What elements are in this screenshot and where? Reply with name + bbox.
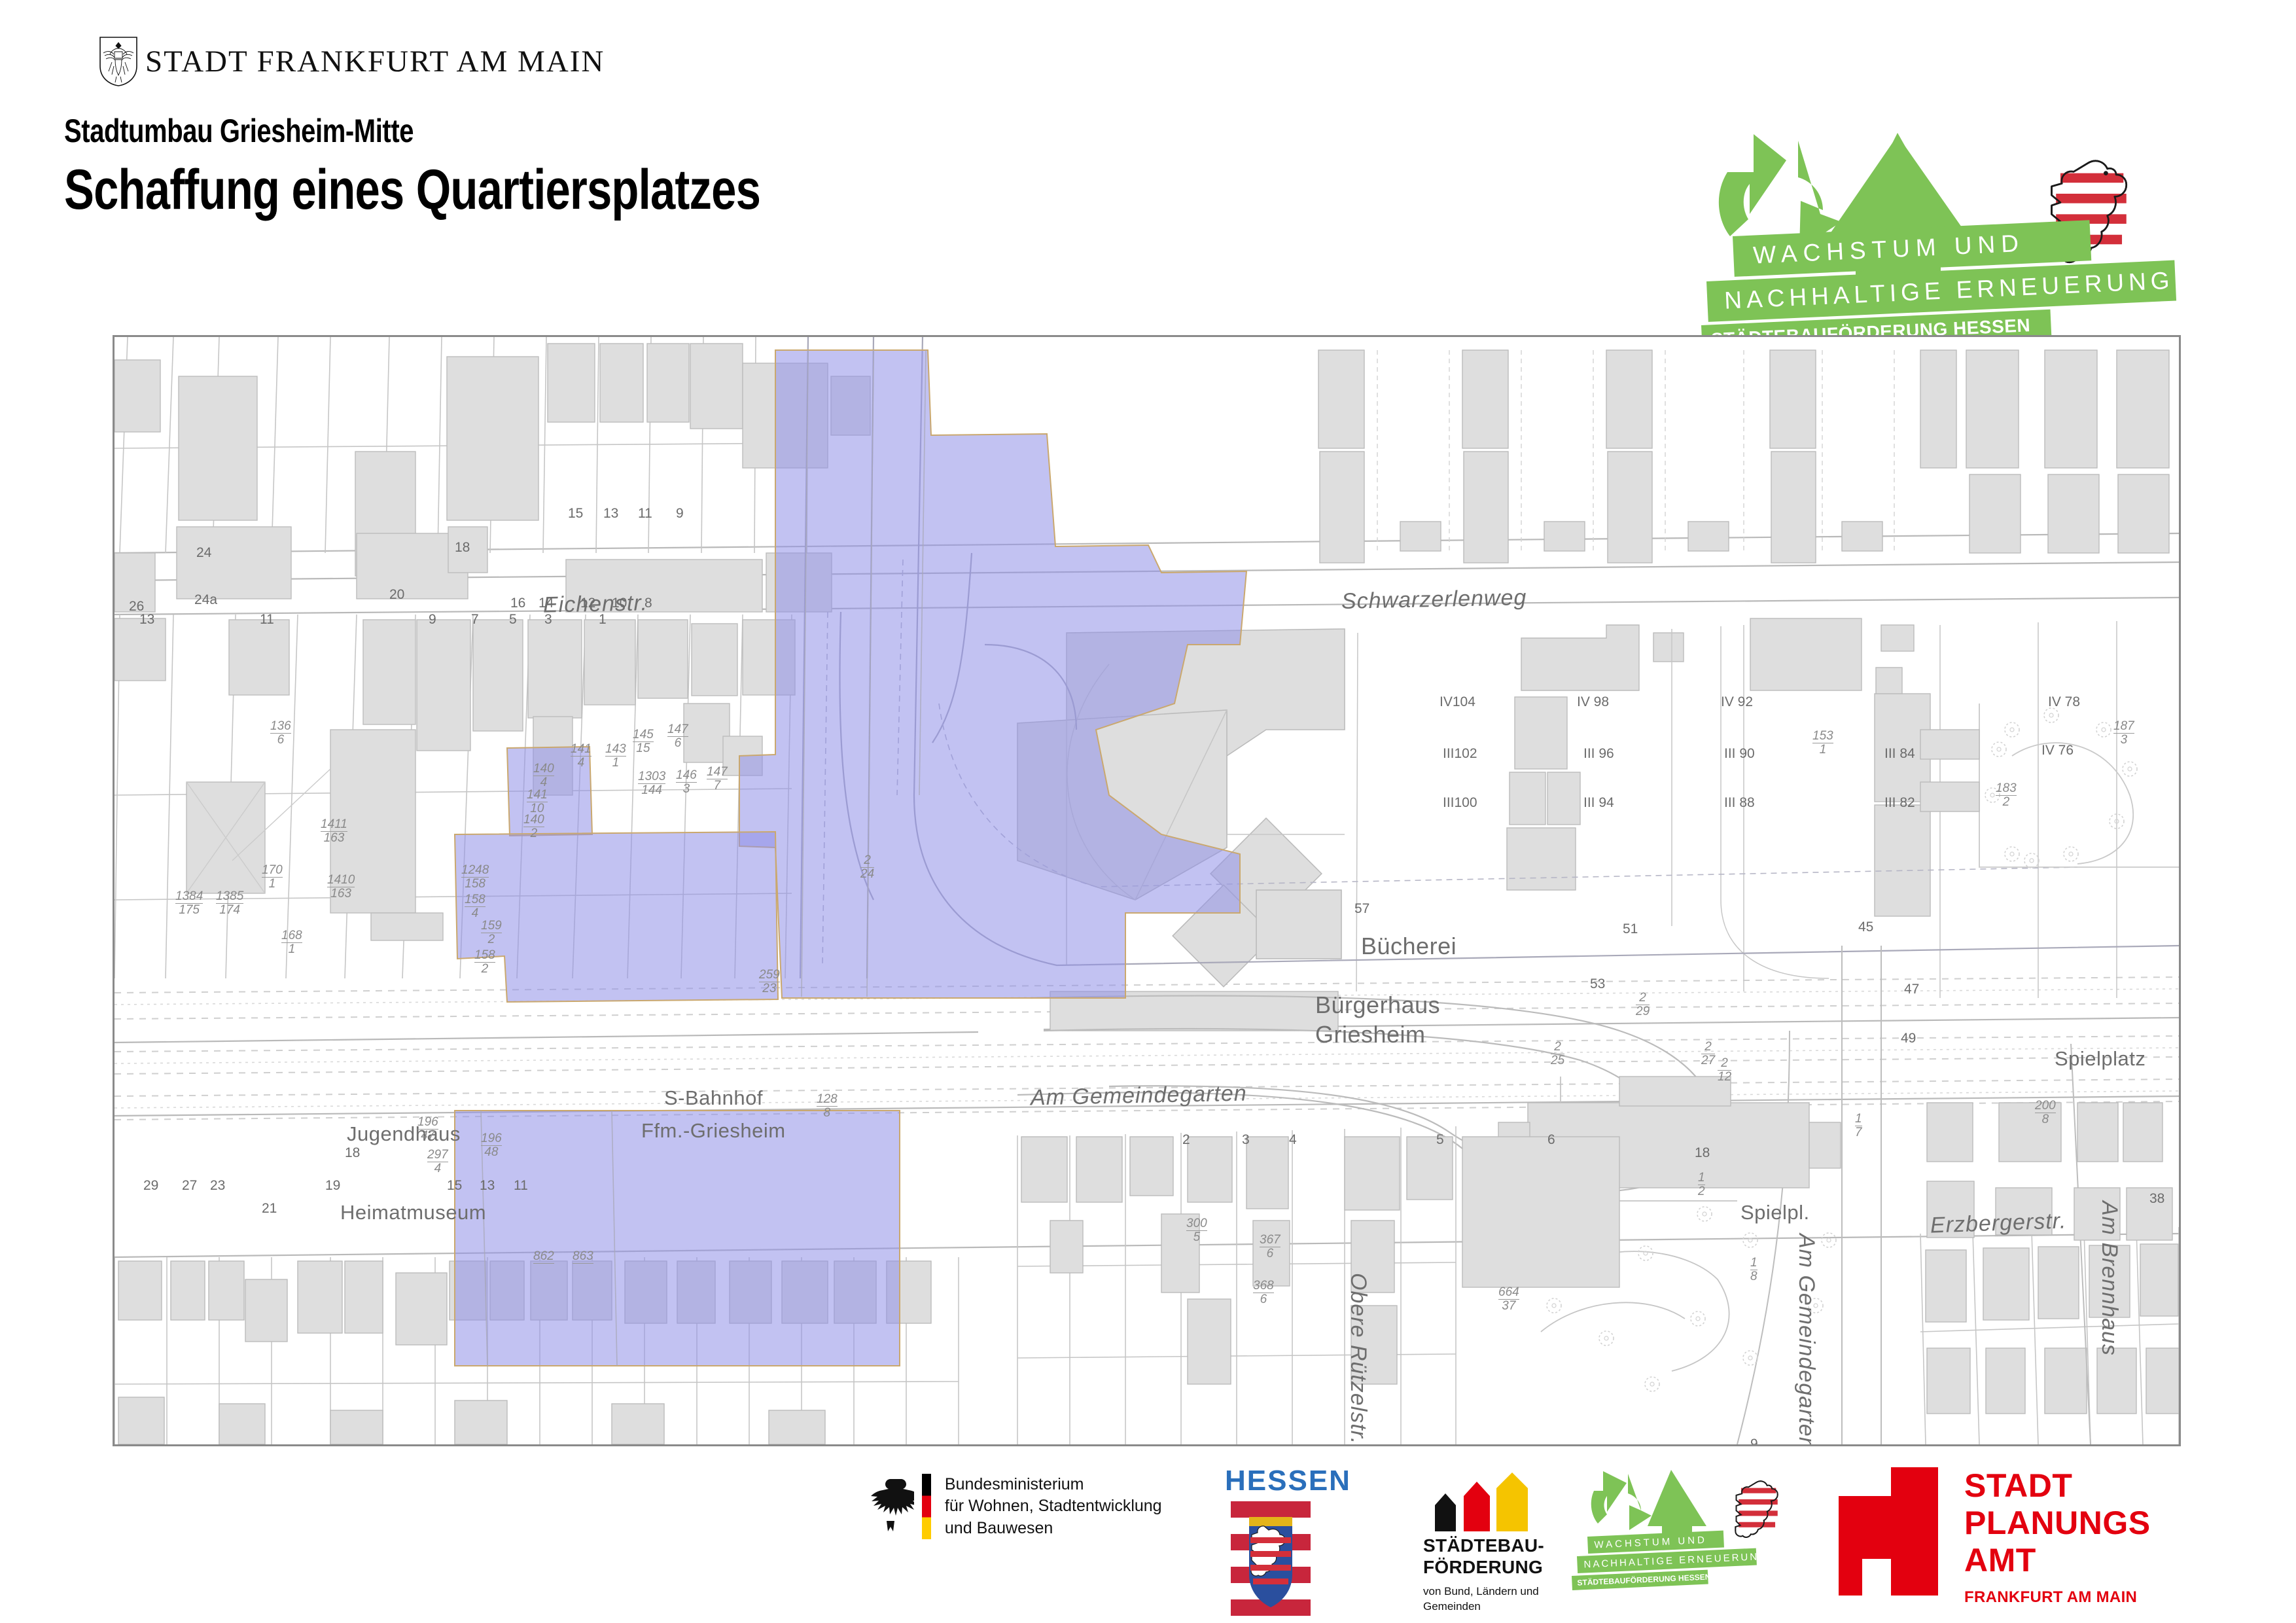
hessen-lion-icon [1735,1481,1777,1537]
german-flag-bar-icon [922,1474,931,1539]
frankfurt-eagle-crest-icon [98,36,139,87]
page-title: Schaffung eines Quartiersplatzes [64,162,760,218]
green-recycle-arrow-icon [1591,1471,1627,1524]
stadtplanungsamt-sublabel: FRANKFURT AM MAIN [1964,1588,2151,1607]
frankfurt-red-block-icon [1839,1467,1938,1596]
footer-logo-bmwsb: Bundesministerium für Wohnen, Stadtentwi… [867,1474,1162,1539]
three-houses-icon [1423,1471,1541,1531]
city-wordmark: STADT FRANKFURT AM MAIN [145,44,605,79]
hessen-coat-of-arms-icon [1231,1501,1311,1616]
footer-logo-program: WACHSTUM UND NACHHALTIGE ERNEUERUNG STÄD… [1590,1466,1786,1600]
page-subtitle: Stadtumbau Griesheim-Mitte [64,115,760,147]
federal-eagle-icon [867,1474,914,1539]
cadastral-map[interactable]: Eichenstr. Schwarzerlenweg Am Gemeindega… [113,335,2181,1446]
staedtebau-sublabel: von Bund, Ländern und Gemeinden [1423,1584,1544,1614]
title-block: Stadtumbau Griesheim-Mitte Schaffung ein… [64,115,934,218]
green-recycle-arrow-icon [1719,134,1786,236]
hessen-wordmark: HESSEN [1225,1465,1316,1497]
stadtplanungsamt-wordmark: STADT PLANUNGS AMT [1964,1467,2151,1579]
staedtebau-label: STÄDTEBAU- FÖRDERUNG [1423,1535,1544,1578]
page-header: STADT FRANKFURT AM MAIN Stadtumbau Gries… [0,0,2296,327]
footer-logo-staedtebaufoerderung: STÄDTEBAU- FÖRDERUNG von Bund, Ländern u… [1423,1471,1544,1614]
city-logo: STADT FRANKFURT AM MAIN [98,36,605,87]
map-graphic [115,337,2179,1444]
bmwsb-text: Bundesministerium für Wohnen, Stadtentwi… [945,1474,1162,1539]
page-footer: Bundesministerium für Wohnen, Stadtentwi… [0,1459,2296,1623]
footer-logo-stadtplanungsamt: STADT PLANUNGS AMT FRANKFURT AM MAIN [1839,1467,2151,1607]
footer-logo-hessen: HESSEN [1225,1465,1316,1616]
